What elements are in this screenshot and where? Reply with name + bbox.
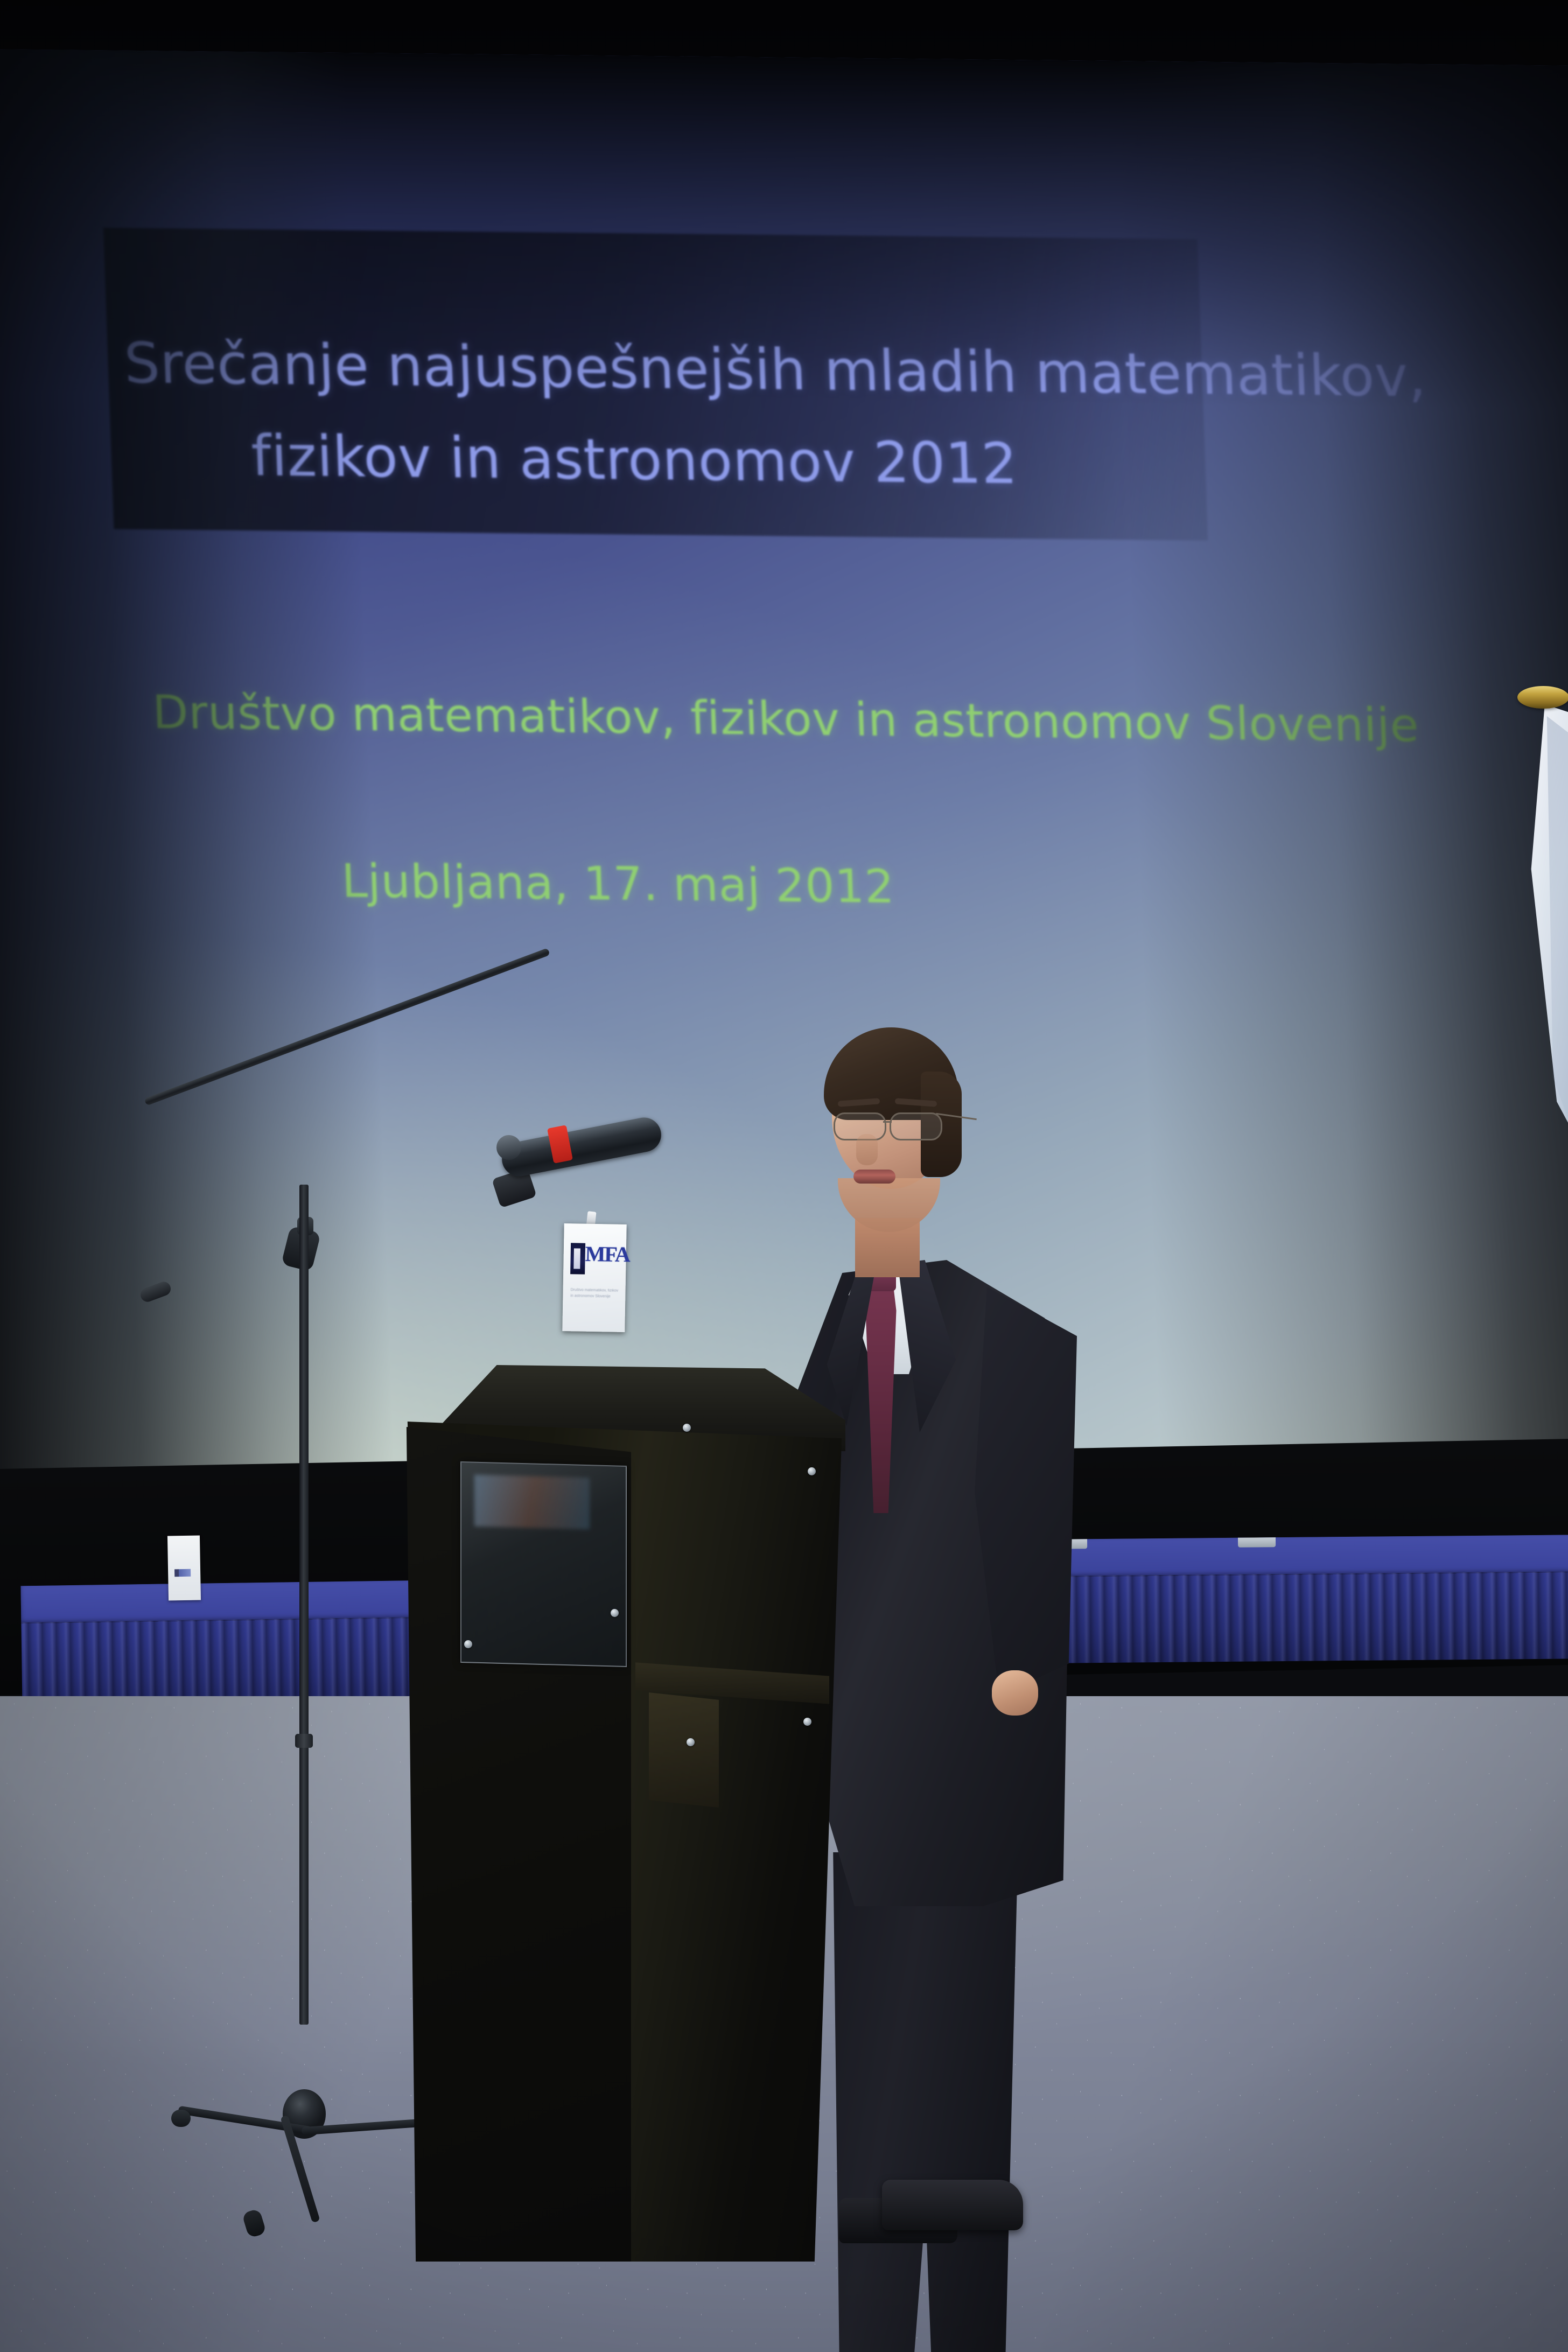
microphone-stand-collar [295,1734,313,1748]
table-drape-top [20,1580,430,1624]
panel-standoff-screw [464,1640,472,1648]
photograph-canvas: Srečanje najuspešnejših mladih matematik… [0,0,1568,2352]
speaker-jaw [838,1178,940,1232]
microphone-stand-pole [299,1185,309,2025]
speaker-hand [992,1670,1038,1716]
lectern-inner-panel [649,1692,719,1808]
slide-title-line-2: fizikov in astronomov 2012 [250,423,1019,496]
dmfa-sign-subtitle: Društvo matematikov, fizikov in astronom… [570,1287,620,1300]
eyeglass-bridge [883,1121,892,1123]
tripod-foot [171,2110,191,2127]
conference-table-left [20,1580,431,1710]
eyeglass-lens-right [890,1112,942,1140]
dmfa-logo-icon [570,1243,585,1274]
lectern-glass-panel [460,1461,627,1667]
slide-place-date-line: Ljubljana, 17. maj 2012 [341,854,895,914]
panel-standoff-screw [611,1609,619,1617]
glass-reflection [474,1475,590,1530]
screen-left-shadow [0,48,398,1576]
lectern-dmfa-sign: MFA Društvo matematikov, fizikov in astr… [562,1223,626,1332]
speaker-mouth [853,1170,895,1184]
panel-standoff-screw [683,1424,691,1432]
dmfa-logo-icon [174,1569,191,1577]
eyeglasses-icon [834,1112,948,1138]
speaker-nose [856,1134,878,1165]
dmfa-sign-logo-text: MFA [585,1243,629,1265]
speaker-shoe-right [882,2180,1023,2230]
screen-right-shadow [1110,61,1568,1590]
table-name-card [167,1535,201,1600]
panel-standoff-screw [803,1718,811,1726]
flag-finial-icon [1517,686,1568,709]
panel-standoff-screw [687,1738,695,1746]
panel-standoff-screw [808,1467,816,1475]
